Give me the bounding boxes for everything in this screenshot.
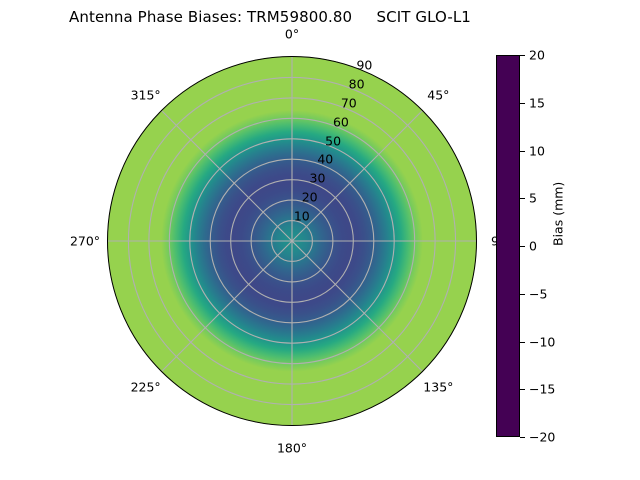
colorbar-ticklabel--15: −15 (529, 382, 555, 397)
matplotlib-figure: Antenna Phase Biases: TRM59800.80 SCIT G… (0, 0, 640, 480)
polar-heatmap-surface (107, 56, 477, 426)
theta-tick-0: 0° (285, 27, 299, 42)
colorbar-tickmark-0 (520, 246, 525, 247)
theta-tick-315: 315° (131, 87, 161, 102)
theta-tick-270: 270° (70, 234, 100, 249)
theta-tick-225: 225° (131, 380, 161, 395)
radial-tick-50: 50 (325, 133, 341, 148)
colorbar-tickmark--20 (520, 437, 525, 438)
colorbar-ticklabel-15: 15 (529, 95, 545, 110)
theta-tick-135: 135° (423, 380, 453, 395)
colorbar-axis-label: Bias (mm) (551, 182, 566, 246)
radial-tick-70: 70 (341, 95, 357, 110)
polar-axes: 0°45°90135°180°225°270°315° 102030405060… (105, 50, 480, 432)
colorbar-gradient (497, 56, 519, 436)
theta-tick-180: 180° (277, 441, 307, 456)
radial-tick-20: 20 (302, 190, 318, 205)
colorbar-ticklabel-0: 0 (529, 239, 537, 254)
radial-tick-10: 10 (294, 209, 310, 224)
colorbar-tickmark--10 (520, 342, 525, 343)
colorbar-ticklabel-5: 5 (529, 191, 537, 206)
colorbar-ticklabel-10: 10 (529, 143, 545, 158)
colorbar-ticklabel--10: −10 (529, 334, 555, 349)
radial-tick-80: 80 (349, 76, 365, 91)
colorbar-tickmark--5 (520, 294, 525, 295)
colorbar: 20151050−5−10−15−20 Bias (mm) (496, 55, 616, 437)
colorbar-tickmark-5 (520, 198, 525, 199)
radial-tick-60: 60 (333, 114, 349, 129)
colorbar-ticklabel--20: −20 (529, 430, 555, 445)
page-title: Antenna Phase Biases: TRM59800.80 SCIT G… (0, 8, 540, 26)
colorbar-tickmark-10 (520, 151, 525, 152)
colorbar-tickmark-20 (520, 55, 525, 56)
colorbar-tickmark-15 (520, 103, 525, 104)
colorbar-ticklabel--5: −5 (529, 286, 547, 301)
polar-data-region (107, 56, 477, 426)
radial-tick-90: 90 (356, 58, 372, 73)
colorbar-gradient-box (496, 55, 520, 437)
colorbar-tickmark--15 (520, 389, 525, 390)
theta-tick-45: 45° (427, 87, 449, 102)
radial-tick-40: 40 (317, 152, 333, 167)
colorbar-ticklabel-20: 20 (529, 48, 545, 63)
radial-tick-30: 30 (310, 171, 326, 186)
